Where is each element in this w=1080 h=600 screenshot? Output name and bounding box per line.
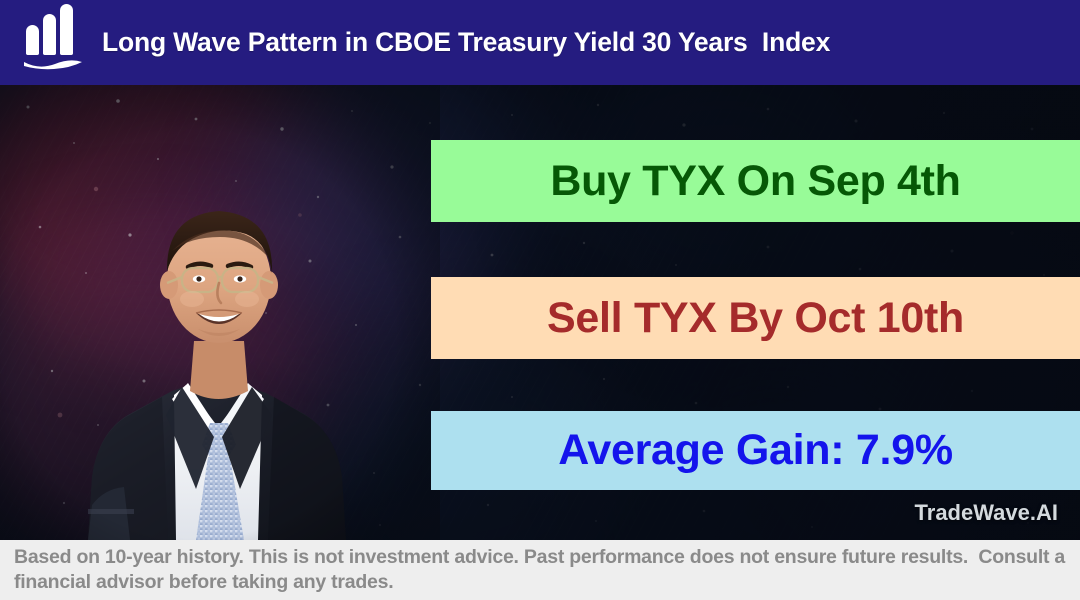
trade-wave-bars-logo-icon (22, 14, 84, 72)
infographic-canvas: Long Wave Pattern in CBOE Treasury Yield… (0, 0, 1080, 600)
sell-signal-label: Sell TYX By Oct 10th (547, 294, 964, 343)
average-gain-banner: Average Gain: 7.9% (431, 411, 1080, 490)
sell-signal-banner: Sell TYX By Oct 10th (431, 277, 1080, 359)
average-gain-label: Average Gain: 7.9% (558, 426, 953, 475)
header-bar: Long Wave Pattern in CBOE Treasury Yield… (0, 0, 1080, 85)
brand-watermark: TradeWave.AI (915, 500, 1058, 526)
buy-signal-label: Buy TYX On Sep 4th (550, 157, 960, 206)
page-title: Long Wave Pattern in CBOE Treasury Yield… (102, 27, 830, 58)
buy-signal-banner: Buy TYX On Sep 4th (431, 140, 1080, 222)
disclaimer-text: Based on 10-year history. This is not in… (14, 545, 1074, 595)
presenter-photo (0, 85, 440, 540)
disclaimer-bar: Based on 10-year history. This is not in… (0, 540, 1080, 600)
